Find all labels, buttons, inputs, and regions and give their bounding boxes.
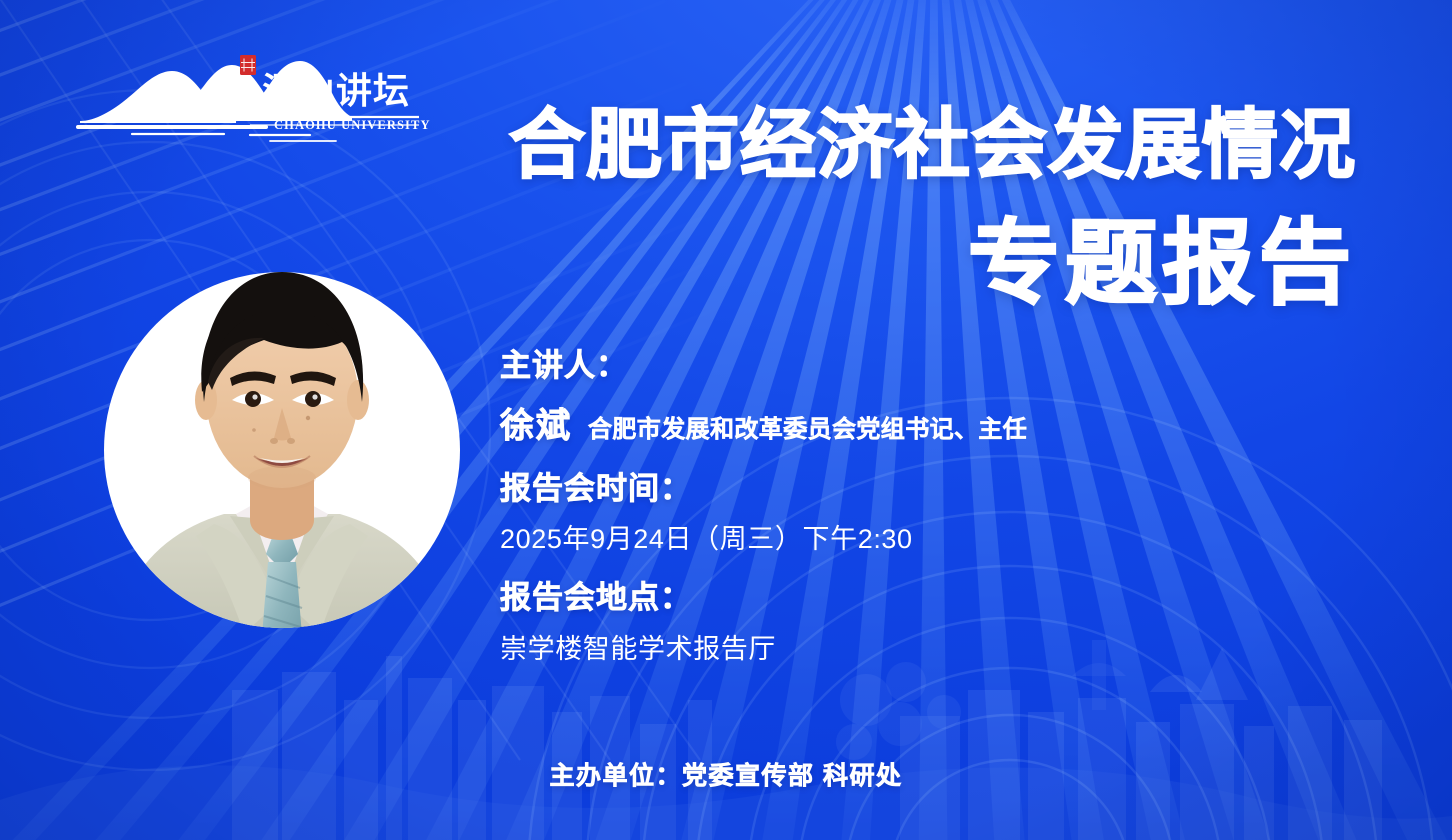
event-details: 主讲人： 徐斌 合肥市发展和改革委员会党组书记、主任 报告会时间： 2025年9… bbox=[500, 346, 1240, 666]
poster-canvas: 汤山讲坛 CHAOHU UNIVERSITY bbox=[0, 0, 1452, 840]
speaker-portrait bbox=[104, 232, 461, 660]
poster-headline: 合肥市经济社会发展情况 专题报告 bbox=[509, 108, 1356, 310]
logo-english-name: CHAOHU UNIVERSITY bbox=[274, 118, 431, 132]
headline-line-1: 合肥市经济社会发展情况 bbox=[509, 108, 1356, 184]
speaker-label: 主讲人： bbox=[500, 346, 1240, 386]
headline-line-2: 专题报告 bbox=[509, 218, 1356, 310]
speaker-title: 合肥市发展和改革委员会党组书记、主任 bbox=[588, 409, 1027, 444]
time-block: 报告会时间： 2025年9月24日（周三）下午2:30 bbox=[500, 469, 1240, 557]
venue-value: 崇学楼智能学术报告厅 bbox=[500, 627, 1240, 666]
organizer-footer: 主办单位：党委宣传部 科研处 bbox=[0, 756, 1452, 792]
organizer-text: 主办单位：党委宣传部 科研处 bbox=[550, 762, 903, 790]
speaker-name: 徐斌 bbox=[500, 398, 572, 447]
speaker-row: 徐斌 合肥市发展和改革委员会党组书记、主任 bbox=[500, 398, 1240, 447]
venue-label: 报告会地点： bbox=[500, 578, 1240, 618]
time-label: 报告会时间： bbox=[500, 469, 1240, 509]
red-seal-stamp bbox=[240, 55, 256, 75]
chaohu-university-logo: 汤山讲坛 CHAOHU UNIVERSITY bbox=[74, 55, 419, 145]
venue-block: 报告会地点： 崇学楼智能学术报告厅 bbox=[500, 578, 1240, 666]
time-value: 2025年9月24日（周三）下午2:30 bbox=[500, 517, 1240, 556]
logo-chinese-name: 汤山讲坛 bbox=[262, 70, 410, 111]
